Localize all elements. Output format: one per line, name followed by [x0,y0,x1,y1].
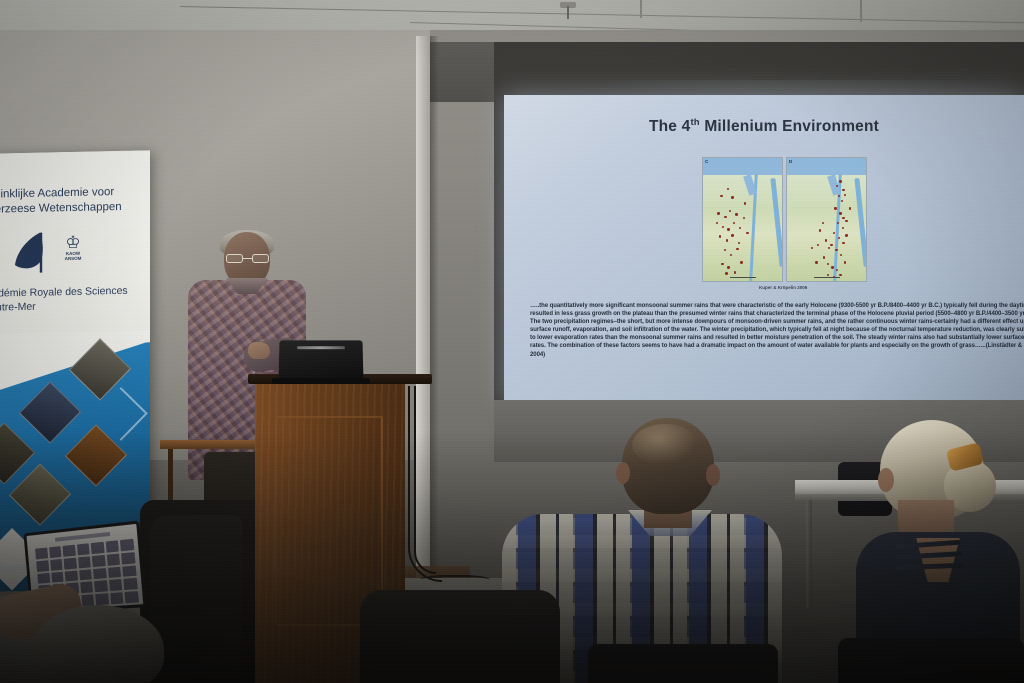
photo-scene: The 4th Millenium Environment C D [0,0,1024,683]
glasses-icon [226,254,270,263]
site-dot [719,235,721,237]
sail-logo-icon [10,230,50,275]
site-dot [830,244,832,246]
site-dot [731,234,733,236]
site-dot [842,242,844,244]
site-dot [822,222,824,224]
site-dot [740,261,742,263]
site-dot [722,226,724,228]
site-dot [721,263,723,265]
site-dot [727,188,729,190]
site-dot [738,242,740,244]
glasses-bridge [243,258,252,259]
site-dot [819,229,821,231]
site-dot [838,195,840,197]
archaeological-site-dots [703,158,782,281]
site-dot [716,222,718,224]
site-dot [845,220,847,222]
site-dot [844,261,846,263]
banner-text-french: Académie Royale des Sciences d'Outre-Mer [0,283,150,315]
glasses-lens-left [226,254,243,263]
lower-room-shadow [0,430,1024,683]
map-figure-credit: Kuper & Kröpelin 2006 [759,285,807,290]
site-dot [835,249,837,251]
site-dot [724,216,726,218]
site-dot [744,202,746,204]
map-panel-c: C [702,157,783,282]
site-dot [837,222,839,224]
site-dot [725,272,727,274]
banner-text-dutch: Koninklijke Academie voor Overzeese Wete… [0,184,150,218]
ceiling-hanger-pin [567,6,569,19]
site-dot [823,256,825,258]
site-dot [739,227,741,229]
site-dot [727,266,729,268]
site-dot [836,185,838,187]
glasses-lens-right [252,254,269,263]
site-dot [720,195,722,197]
archaeological-site-dots [787,158,866,281]
site-dot [845,234,847,236]
site-dot [827,263,829,265]
slide-body-text: …..the quantitatively more significant m… [530,302,1024,359]
site-dot [842,189,844,191]
site-dot [746,232,748,234]
site-dot [743,217,745,219]
site-dot [849,207,851,209]
site-dot [811,247,813,249]
slide-title-prefix: The 4 [649,118,690,135]
laptop-hinge [297,346,345,349]
site-dot [735,213,737,215]
laptop-base [272,378,370,384]
site-dot [726,239,728,241]
presenter-laptop[interactable] [279,340,364,382]
site-dot [838,237,840,239]
crown-logo-icon: ♔ KAOW ARSOM [58,234,88,269]
site-dot [729,210,731,212]
site-dot [834,207,836,209]
site-dot [734,271,736,273]
site-dot [842,227,844,229]
site-dot [727,228,729,230]
site-dot [831,266,833,268]
site-dot [733,222,735,224]
ceiling-tile-line [860,0,862,22]
slide-map-figure: C D [702,157,867,282]
presenter-hand [248,342,270,359]
slide-title-suffix: Millenium Environment [700,118,879,135]
site-dot [736,248,738,250]
site-dot [839,180,841,182]
crown-sub-arsom: ARSOM [58,256,88,262]
site-dot [730,254,732,256]
site-dot [828,247,830,249]
site-dot [833,232,835,234]
site-dot [815,261,817,263]
map-scale-bar [814,277,840,279]
slide-title-superscript: th [690,117,699,128]
site-dot [825,239,827,241]
slide-title: The 4th Millenium Environment [504,117,1024,136]
site-dot [842,217,844,219]
site-dot [839,212,841,214]
site-dot [731,196,733,198]
site-dot [724,249,726,251]
map-scale-bar [730,277,756,279]
ceiling-tile-line [640,0,642,18]
site-dot [836,269,838,271]
site-dot [817,244,819,246]
projection-screen[interactable]: The 4th Millenium Environment C D [504,95,1024,402]
crown-glyph-icon: ♔ [58,234,88,252]
map-panel-d: D [786,157,867,282]
site-dot [844,194,846,196]
site-dot [841,200,843,202]
site-dot [840,254,842,256]
site-dot [717,212,719,214]
ceiling-tile-line [180,6,1024,23]
